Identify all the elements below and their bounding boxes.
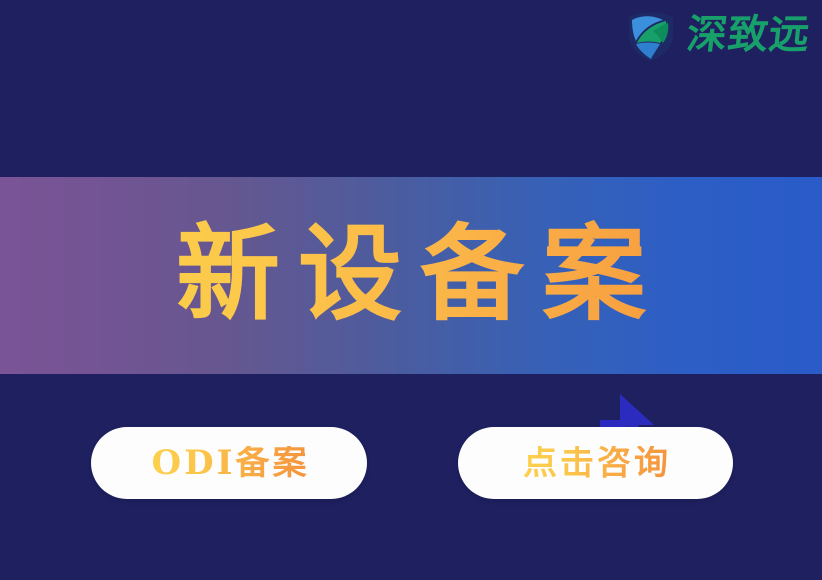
- page-title: 新设备案: [0, 215, 822, 333]
- brand-name: 深致远: [685, 15, 816, 55]
- promo-banner: 深致远 新设备案 ODI备案 点击咨询: [0, 0, 822, 580]
- brand-logo[interactable]: 深致远: [623, 6, 814, 64]
- odi-filing-button[interactable]: ODI备案: [91, 427, 367, 499]
- shield-leaf-logo-icon: [623, 7, 679, 63]
- consult-button[interactable]: 点击咨询: [458, 427, 733, 499]
- consult-button-label: 点击咨询: [520, 446, 671, 480]
- odi-filing-button-label: ODI备案: [148, 446, 309, 480]
